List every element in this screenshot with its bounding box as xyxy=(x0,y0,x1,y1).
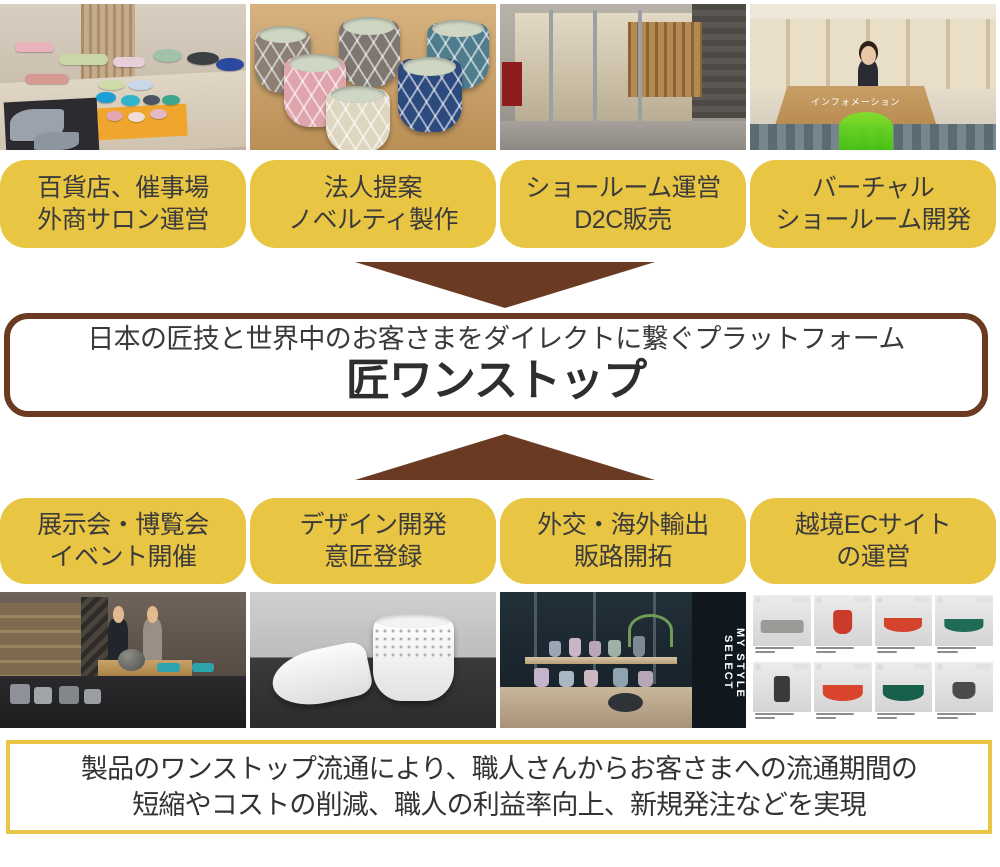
caption-line-2: 短縮やコストの削減、職人の利益率向上、新規発注などを実現 xyxy=(132,787,866,823)
ec-site-photo xyxy=(750,592,996,728)
box-line-2: ノベルティ製作 xyxy=(288,204,458,236)
box-line-1: 越境ECサイト xyxy=(795,509,951,541)
ec-product-tile xyxy=(814,662,872,726)
booth-sign-text: MY STYLE SELECT xyxy=(692,592,746,728)
platform-title: 匠ワンストップ xyxy=(346,356,646,405)
ec-product-tile xyxy=(875,662,933,726)
arrow-down xyxy=(355,262,655,308)
trade-booth-photo: MY STYLE SELECT xyxy=(500,592,746,728)
ec-product-tile xyxy=(875,595,933,659)
top-photo-row: インフォメーション xyxy=(0,4,1000,150)
box-line-2: ショールーム開発 xyxy=(775,204,970,236)
ec-product-tile xyxy=(935,595,993,659)
department-store-tableware-display xyxy=(0,4,246,150)
ec-product-tile xyxy=(753,595,811,659)
box-line-2: D2C販売 xyxy=(574,204,672,236)
ec-product-tile xyxy=(814,595,872,659)
box-line-2: イベント開催 xyxy=(49,541,196,573)
cross-border-ec-box[interactable]: 越境ECサイト の運営 xyxy=(750,498,996,584)
white-porcelain-photo xyxy=(250,592,496,728)
box-line-1: ショールーム運営 xyxy=(525,172,720,204)
box-line-2: 意匠登録 xyxy=(324,541,422,573)
box-line-1: 展示会・博覧会 xyxy=(37,509,209,541)
corporate-proposal-box[interactable]: 法人提案 ノベルティ製作 xyxy=(250,160,496,248)
box-line-1: バーチャル xyxy=(812,172,934,204)
box-line-2: の運営 xyxy=(836,541,910,573)
design-development-box[interactable]: デザイン開発 意匠登録 xyxy=(250,498,496,584)
showroom-storefront xyxy=(500,4,746,150)
platform-center-box: 日本の匠技と世界中のお客さまをダイレクトに繋ぐプラットフォーム 匠ワンストップ xyxy=(4,313,988,417)
box-line-1: 法人提案 xyxy=(324,172,422,204)
caption-line-1: 製品のワンストップ流通により、職人さんからお客さまへの流通期間の xyxy=(81,751,917,787)
department-store-box[interactable]: 百貨店、催事場 外商サロン運営 xyxy=(0,160,246,248)
infographic-page: インフォメーション 百貨店、催事場 外商サロン運営 法人提案 ノベルティ製作 シ… xyxy=(0,0,1000,867)
ec-product-tile xyxy=(753,662,811,726)
exhibition-box[interactable]: 展示会・博覧会 イベント開催 xyxy=(0,498,246,584)
virtual-showroom: インフォメーション xyxy=(750,4,996,150)
exhibition-booth-photo xyxy=(0,592,246,728)
ec-product-tile xyxy=(935,662,993,726)
box-line-2: 外商サロン運営 xyxy=(37,204,209,236)
bottom-photo-row: MY STYLE SELECT xyxy=(0,592,1000,728)
box-line-1: 百貨店、催事場 xyxy=(37,172,209,204)
top-boxes-row: 百貨店、催事場 外商サロン運営 法人提案 ノベルティ製作 ショールーム運営 D2… xyxy=(0,160,1000,248)
arrow-up xyxy=(355,434,655,480)
box-line-1: デザイン開発 xyxy=(299,509,446,541)
patterned-teacups xyxy=(250,4,496,150)
platform-subtitle: 日本の匠技と世界中のお客さまをダイレクトに繋ぐプラットフォーム xyxy=(87,325,905,355)
virtual-showroom-box[interactable]: バーチャル ショールーム開発 xyxy=(750,160,996,248)
box-line-2: 販路開拓 xyxy=(574,541,672,573)
summary-caption-box: 製品のワンストップ流通により、職人さんからお客さまへの流通期間の 短縮やコストの… xyxy=(6,740,992,834)
showroom-box[interactable]: ショールーム運営 D2C販売 xyxy=(500,160,746,248)
virtual-showroom-counter-label: インフォメーション xyxy=(775,95,937,108)
bottom-boxes-row: 展示会・博覧会 イベント開催 デザイン開発 意匠登録 外交・海外輸出 販路開拓 … xyxy=(0,498,1000,584)
export-box[interactable]: 外交・海外輸出 販路開拓 xyxy=(500,498,746,584)
box-line-1: 外交・海外輸出 xyxy=(537,509,709,541)
